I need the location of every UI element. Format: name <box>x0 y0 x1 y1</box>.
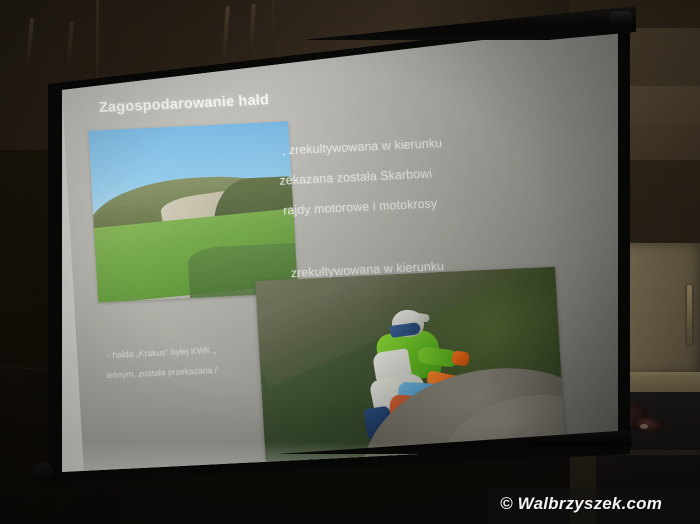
screen-roller <box>40 6 636 40</box>
slide-plane: Zagospodarowanie hałd , zrekultywowana w… <box>44 14 630 486</box>
projection-screen: Zagospodarowanie hałd , zrekultywowana w… <box>0 0 700 524</box>
slide-title: Zagospodarowanie hałd <box>99 92 270 116</box>
slide-body-line-1: , zrekultywowana w kierunku <box>281 136 442 158</box>
slide-body-line-3: rajdy motorowe i motokrosy <box>283 196 438 217</box>
weight-bar-end-cap <box>32 462 54 482</box>
rider-glove <box>451 350 470 367</box>
watermark-text: © Walbrzyszek.com <box>500 494 662 514</box>
screen-surface: Zagospodarowanie hałd , zrekultywowana w… <box>44 14 630 486</box>
presentation-slide: Zagospodarowanie hałd , zrekultywowana w… <box>58 14 630 473</box>
slide-footnote-line-2: leśnym, została przekazana / <box>106 365 217 380</box>
photograph-scene: Zagospodarowanie hałd , zrekultywowana w… <box>0 0 700 524</box>
roller-end-cap <box>610 10 633 23</box>
slide-body-line-2: zekazana została Skarbowi <box>279 167 432 188</box>
slide-footnote-line-1: - hałda „Krakus" byłej KWK „ <box>107 345 216 360</box>
landscape-photo <box>88 121 298 302</box>
